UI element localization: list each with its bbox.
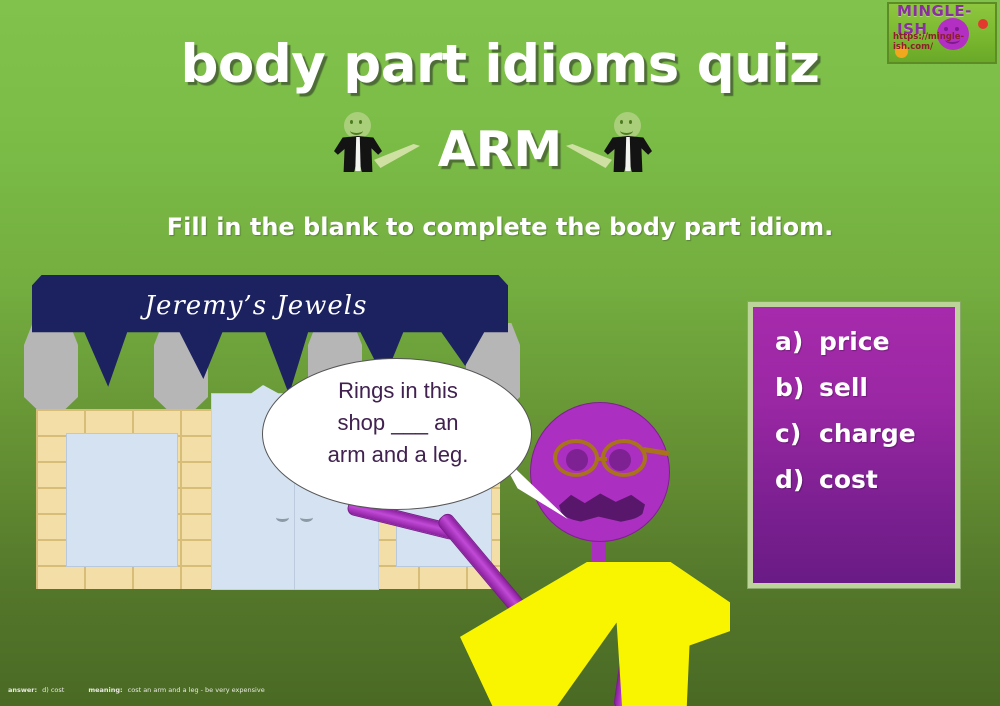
answer-label: answer: bbox=[8, 686, 37, 694]
option-key-b: b) bbox=[775, 373, 819, 402]
bubble-line-3: arm and a leg. bbox=[328, 442, 469, 467]
meaning-value: cost an arm and a leg - be very expensiv… bbox=[128, 686, 265, 694]
bubble-line-2: shop ___ an bbox=[337, 410, 458, 435]
option-label-d: cost bbox=[819, 465, 878, 494]
bubble-line-1: Rings in this bbox=[338, 378, 458, 403]
answer-options-list: a) price b) sell c) charge d) cost bbox=[775, 327, 916, 511]
character-head bbox=[530, 402, 670, 542]
shop-window-left bbox=[66, 433, 178, 567]
answer-value: d) cost bbox=[42, 686, 64, 694]
answer-options-panel: a) price b) sell c) charge d) cost bbox=[748, 302, 960, 588]
answer-key-footer: answer: d) cost meaning: cost an arm and… bbox=[8, 686, 265, 694]
mustache-icon bbox=[559, 491, 645, 523]
quiz-slide: body part idioms quiz ARM Fill in the bl… bbox=[0, 0, 1000, 706]
door-handle-icon bbox=[276, 513, 289, 522]
shop-pillar bbox=[24, 323, 78, 423]
answer-option-a[interactable]: a) price bbox=[775, 327, 916, 356]
answer-option-b[interactable]: b) sell bbox=[775, 373, 916, 402]
glasses-lens-icon bbox=[601, 439, 647, 477]
meaning-label: meaning: bbox=[88, 686, 122, 694]
glasses-lens-icon bbox=[553, 439, 599, 477]
body-part-subtitle: ARM bbox=[0, 121, 1000, 178]
option-label-a: price bbox=[819, 327, 890, 356]
door-handle-icon bbox=[300, 513, 313, 522]
instruction-text: Fill in the blank to complete the body p… bbox=[0, 213, 1000, 241]
site-url: https://mingle-ish.com/ bbox=[893, 32, 995, 52]
speech-bubble: Rings in this shop ___ an arm and a leg. bbox=[262, 358, 532, 510]
red-dot-icon bbox=[978, 19, 988, 29]
option-label-b: sell bbox=[819, 373, 868, 402]
answer-option-c[interactable]: c) charge bbox=[775, 419, 916, 448]
option-key-a: a) bbox=[775, 327, 819, 356]
answer-option-d[interactable]: d) cost bbox=[775, 465, 916, 494]
option-label-c: charge bbox=[819, 419, 916, 448]
glasses-bridge-icon bbox=[597, 457, 607, 461]
option-key-d: d) bbox=[775, 465, 819, 494]
option-key-c: c) bbox=[775, 419, 819, 448]
mingle-ish-logo[interactable]: MINGLE-ISH https://mingle-ish.com/ bbox=[887, 2, 997, 64]
page-title: body part idioms quiz bbox=[0, 34, 1000, 95]
shop-sign-text: Jeremy’s Jewels bbox=[18, 291, 494, 321]
speech-bubble-text: Rings in this shop ___ an arm and a leg. bbox=[263, 375, 533, 471]
